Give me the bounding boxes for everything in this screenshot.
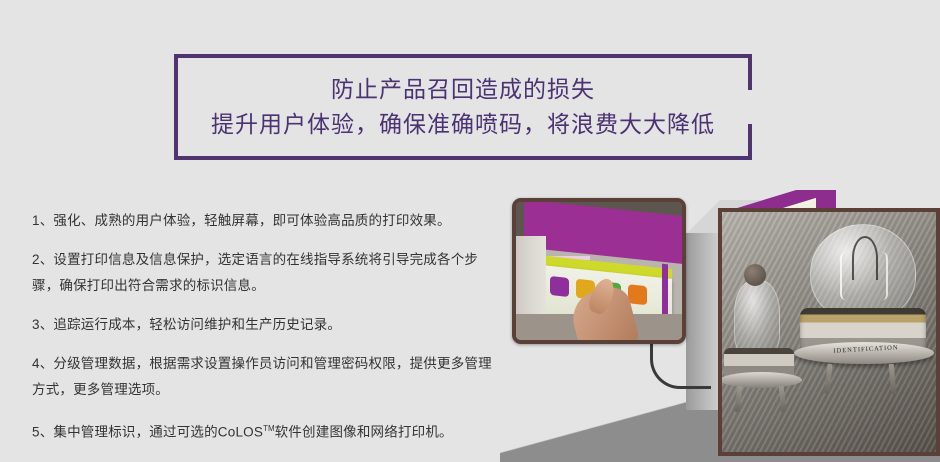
headline-line-1: 防止产品召回造成的损失 <box>331 75 595 104</box>
feature-item-2: 2、设置打印信息及信息保护，选定语言的在线指导系统将引导完成各个步骤，确保打印出… <box>32 247 502 299</box>
bulb-small-ring <box>720 372 802 388</box>
bulb-small-cap <box>744 264 766 286</box>
feature-item-1: 1、强化、成熟的用户体验，轻触屏幕，即可体验高品质的打印效果。 <box>32 208 502 234</box>
headline-banner: 防止产品召回造成的损失 提升用户体验，确保准确喷码，将浪费大大降低 <box>174 54 748 160</box>
bulb-small-glass <box>734 280 780 358</box>
inset-photo-lightbulbs: IDENTIFICATION <box>718 208 940 456</box>
inset-photo-touchscreen <box>512 198 686 344</box>
feature-item-5-tail: 软件创建图像和网络打印机。 <box>275 425 453 440</box>
feature-list: 1、强化、成熟的用户体验，轻触屏幕，即可体验高品质的打印效果。 2、设置打印信息… <box>32 208 502 446</box>
feature-item-5-head: 5、集中管理标识，通过可选的CoLOS <box>32 425 263 440</box>
feature-item-5: 5、集中管理标识，通过可选的CoLOSTM软件创建图像和网络打印机。 <box>32 416 502 446</box>
inset-app-icon-purple <box>550 276 569 297</box>
feature-item-3: 3、追踪运行成本，轻松访问维护和生产历史记录。 <box>32 312 502 338</box>
headline-line-2: 提升用户体验，确保准确喷码，将浪费大大降低 <box>211 110 715 139</box>
trademark-icon: TM <box>263 424 275 433</box>
headline-inner: 防止产品召回造成的损失 提升用户体验，确保准确喷码，将浪费大大降低 <box>178 58 748 156</box>
feature-item-4: 4、分级管理数据，根据需求设置操作员访问和管理密码权限，提供更多管理方式，更多管… <box>32 351 502 403</box>
product-image-area: 9410 IDENTI <box>500 190 940 462</box>
inset-app-icon-orange <box>628 284 647 305</box>
bulb-large-filament <box>852 236 878 280</box>
